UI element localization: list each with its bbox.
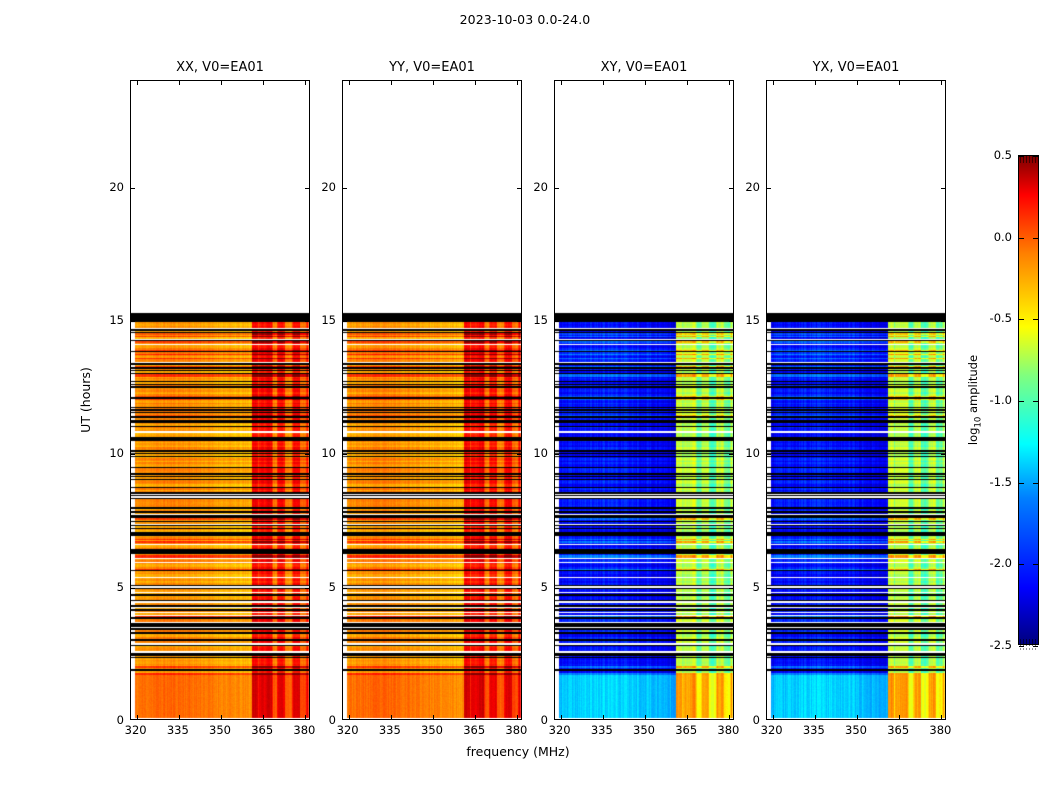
heatmap-ax0 — [131, 81, 310, 720]
y-tick-label: 15 — [514, 313, 548, 327]
x-tick-top — [857, 81, 858, 85]
y-tick-label: 0 — [90, 713, 124, 727]
y-tick-label: 20 — [302, 180, 336, 194]
x-tick-top — [263, 81, 264, 85]
x-tick-label: 350 — [836, 723, 876, 737]
panel-title-yx: YX, V0=EA01 — [766, 60, 946, 75]
heatmap-ax1 — [343, 81, 522, 720]
colorbar-tick-label: -2.0 — [972, 556, 1012, 570]
y-tick-label: 15 — [302, 313, 336, 327]
x-tick — [603, 715, 604, 719]
x-tick-top — [687, 81, 688, 85]
panel-yx[interactable] — [766, 80, 946, 720]
x-tick — [899, 715, 900, 719]
y-tick-label: 10 — [302, 446, 336, 460]
x-tick — [433, 715, 434, 719]
colorbar-tick-label: 0.0 — [972, 230, 1012, 244]
colorbar-tick-right — [1033, 564, 1038, 565]
colorbar-tick-right — [1033, 483, 1038, 484]
colorbar-tick — [1019, 564, 1024, 565]
panel-title-xy: XY, V0=EA01 — [554, 60, 734, 75]
x-tick-label: 335 — [158, 723, 198, 737]
y-tick-label: 10 — [90, 446, 124, 460]
y-tick-label: 20 — [90, 180, 124, 194]
x-tick-top — [561, 81, 562, 85]
x-tick — [263, 715, 264, 719]
y-tick — [131, 588, 135, 589]
x-tick — [179, 715, 180, 719]
x-tick-label: 365 — [666, 723, 706, 737]
y-tick-right — [941, 188, 945, 189]
x-tick-top — [899, 81, 900, 85]
x-tick-label: 350 — [624, 723, 664, 737]
panel-title-xx: XX, V0=EA01 — [130, 60, 310, 75]
colorbar-extend-hatch-high — [1020, 156, 1038, 163]
x-tick — [221, 715, 222, 719]
y-axis-label: UT (hours) — [78, 367, 93, 433]
y-tick-label: 10 — [514, 446, 548, 460]
y-tick — [555, 454, 559, 455]
colorbar-tick-right — [1033, 319, 1038, 320]
y-tick-label: 20 — [726, 180, 760, 194]
x-tick — [349, 715, 350, 719]
y-tick-right — [941, 454, 945, 455]
x-tick-top — [815, 81, 816, 85]
colorbar-tick-right — [1033, 401, 1038, 402]
x-tick — [561, 715, 562, 719]
colorbar-tick-right — [1033, 646, 1038, 647]
colorbar-tick — [1019, 319, 1024, 320]
y-tick-label: 10 — [726, 446, 760, 460]
y-tick — [131, 454, 135, 455]
x-tick-label: 335 — [794, 723, 834, 737]
x-tick-label: 365 — [242, 723, 282, 737]
colorbar-tick-right — [1033, 238, 1038, 239]
x-tick-label: 335 — [582, 723, 622, 737]
y-tick — [343, 588, 347, 589]
y-tick-right — [941, 321, 945, 322]
panel-xx[interactable] — [130, 80, 310, 720]
colorbar-tick-label: -0.5 — [972, 311, 1012, 325]
y-tick-label: 5 — [302, 580, 336, 594]
y-tick — [767, 454, 771, 455]
x-tick-top — [475, 81, 476, 85]
y-tick-label: 0 — [726, 713, 760, 727]
x-tick-top — [645, 81, 646, 85]
x-tick-top — [221, 81, 222, 85]
x-tick-top — [137, 81, 138, 85]
y-tick — [131, 188, 135, 189]
heatmap-ax2 — [555, 81, 734, 720]
x-tick-label: 365 — [878, 723, 918, 737]
x-tick-top — [433, 81, 434, 85]
panel-xy[interactable] — [554, 80, 734, 720]
x-tick-label: 365 — [454, 723, 494, 737]
x-axis-label-text: frequency (MHz) — [466, 744, 569, 759]
y-tick-label: 0 — [514, 713, 548, 727]
x-tick-top — [179, 81, 180, 85]
colorbar-underline-dots — [1020, 648, 1037, 650]
figure-canvas: 2023-10-03 0.0-24.0 UT (hours) frequency… — [0, 0, 1050, 800]
y-tick-label: 20 — [514, 180, 548, 194]
y-tick-label: 5 — [726, 580, 760, 594]
y-tick — [555, 588, 559, 589]
x-tick — [137, 715, 138, 719]
x-tick-top — [729, 81, 730, 85]
panel-title-yy: YY, V0=EA01 — [342, 60, 522, 75]
x-tick — [941, 715, 942, 719]
colorbar-tick-label: 0.5 — [972, 148, 1012, 162]
x-tick-top — [517, 81, 518, 85]
y-tick-right — [941, 588, 945, 589]
colorbar-extend-hatch-low — [1020, 639, 1038, 646]
y-tick — [767, 588, 771, 589]
colorbar-tick — [1019, 238, 1024, 239]
x-tick-label: 350 — [200, 723, 240, 737]
x-tick — [857, 715, 858, 719]
x-tick-label: 380 — [920, 723, 960, 737]
y-tick-label: 5 — [90, 580, 124, 594]
y-tick — [343, 454, 347, 455]
y-tick — [767, 321, 771, 322]
x-tick-label: 335 — [370, 723, 410, 737]
x-tick — [687, 715, 688, 719]
x-tick-top — [603, 81, 604, 85]
colorbar-tick — [1019, 646, 1024, 647]
x-tick-top — [305, 81, 306, 85]
y-tick-label: 5 — [514, 580, 548, 594]
x-tick — [391, 715, 392, 719]
y-tick — [555, 321, 559, 322]
y-tick — [343, 188, 347, 189]
y-tick-label: 15 — [90, 313, 124, 327]
figure-suptitle: 2023-10-03 0.0-24.0 — [0, 12, 1050, 27]
x-tick-top — [349, 81, 350, 85]
panel-yy[interactable] — [342, 80, 522, 720]
y-tick — [555, 188, 559, 189]
x-tick — [773, 715, 774, 719]
y-tick — [343, 321, 347, 322]
x-tick-label: 350 — [412, 723, 452, 737]
colorbar-tick-label: -2.5 — [972, 638, 1012, 652]
y-tick — [131, 321, 135, 322]
x-tick — [475, 715, 476, 719]
colorbar[interactable] — [1018, 155, 1039, 645]
x-tick-top — [773, 81, 774, 85]
x-tick — [645, 715, 646, 719]
x-axis-label: frequency (MHz) — [0, 744, 1050, 759]
y-tick-label: 0 — [302, 713, 336, 727]
x-tick-top — [391, 81, 392, 85]
y-tick-label: 15 — [726, 313, 760, 327]
colorbar-tick-label: -1.5 — [972, 475, 1012, 489]
heatmap-ax3 — [767, 81, 946, 720]
y-tick — [767, 188, 771, 189]
colorbar-tick — [1019, 401, 1024, 402]
colorbar-tick — [1019, 483, 1024, 484]
x-tick-top — [941, 81, 942, 85]
colorbar-tick-label: -1.0 — [972, 393, 1012, 407]
x-tick — [815, 715, 816, 719]
